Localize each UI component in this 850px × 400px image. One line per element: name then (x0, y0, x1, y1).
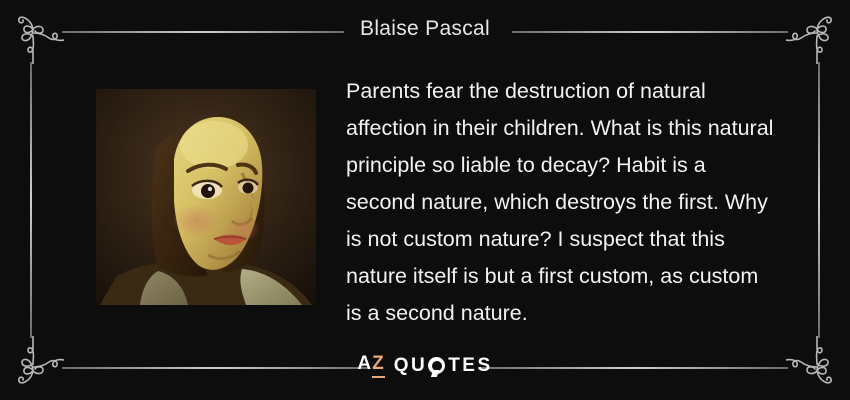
logo-az: A Z (357, 353, 384, 378)
speech-bubble-icon (428, 357, 445, 374)
quote-text: Parents fear the destruction of natural … (346, 73, 778, 332)
author-name[interactable]: Blaise Pascal (0, 17, 850, 41)
az-quotes-logo[interactable]: A Z QU TES (0, 353, 850, 378)
frame-rule-right (818, 62, 820, 338)
logo-quotes-suffix: TES (448, 355, 492, 377)
quote-card: Blaise Pascal (0, 0, 850, 400)
author-portrait[interactable] (96, 89, 316, 305)
logo-quotes-prefix: QU (394, 355, 428, 377)
frame-rule-left (30, 62, 32, 338)
logo-letter-a: A (357, 353, 372, 375)
logo-letter-z: Z (372, 353, 385, 378)
logo-quotes-word: QU TES (394, 355, 493, 377)
